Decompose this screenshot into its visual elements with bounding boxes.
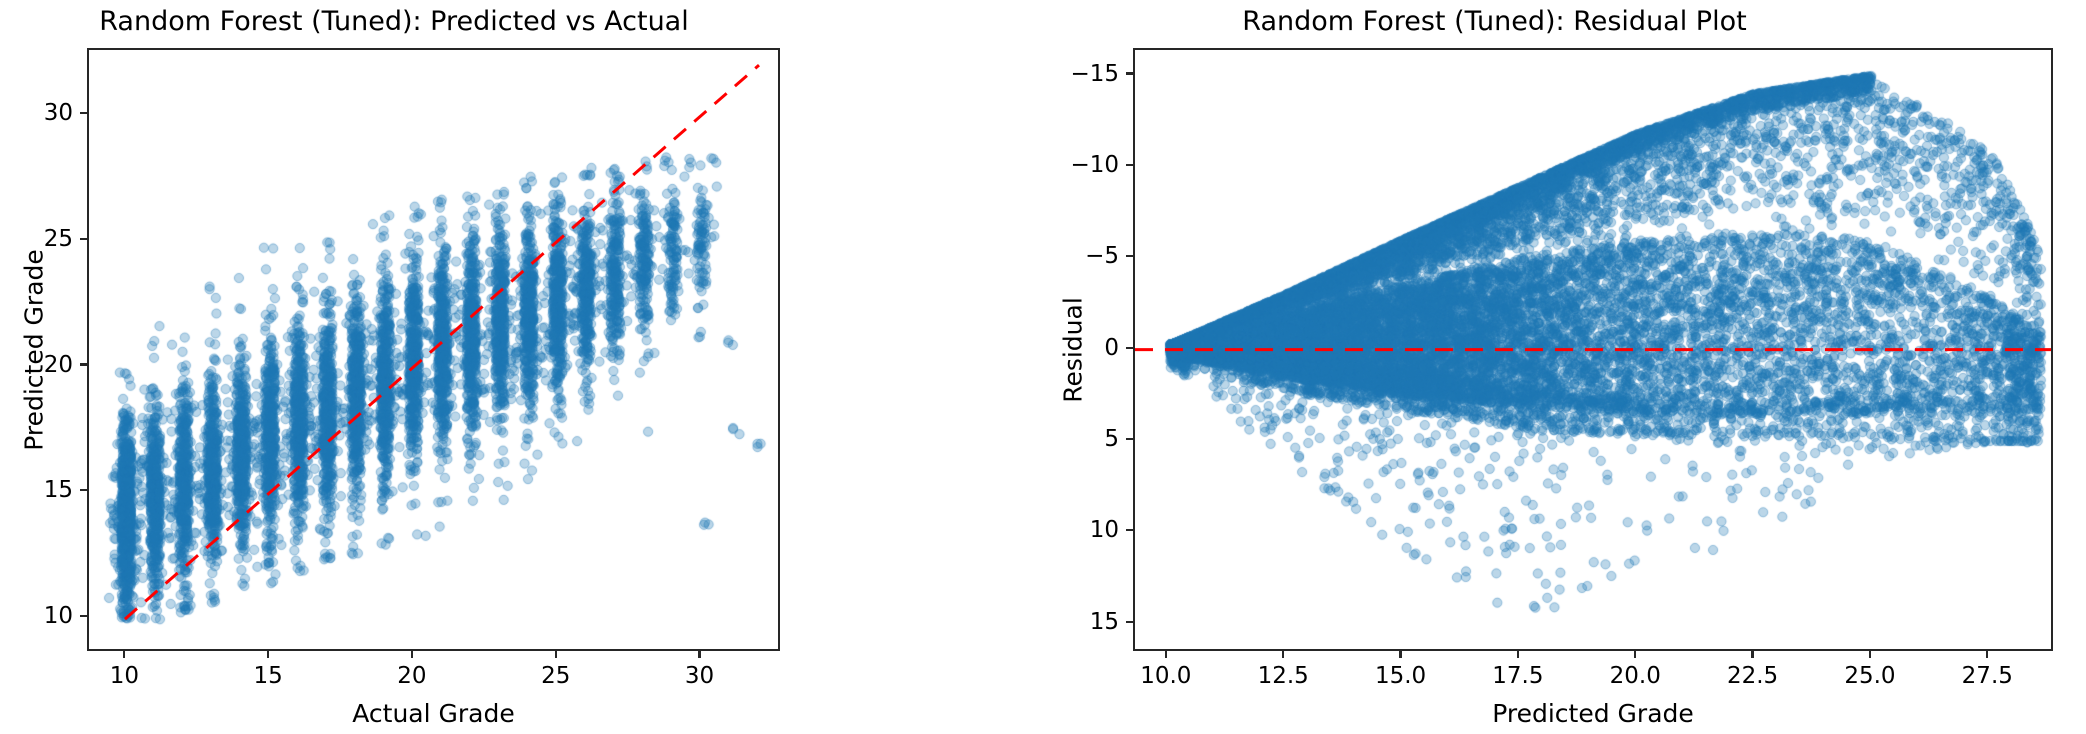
x-tick-mark: [698, 651, 700, 658]
plot-area-predicted-vs-actual: [87, 48, 780, 651]
x-tick-label: 30: [685, 663, 714, 689]
y-tick-label: −15: [1070, 61, 1119, 87]
y-tick-mark: [1126, 164, 1133, 166]
panel-predicted-vs-actual: Random Forest (Tuned): Predicted vs Actu…: [0, 0, 1043, 734]
y-tick-label: 15: [1090, 609, 1119, 635]
y-tick-label: 10: [1090, 517, 1119, 543]
y-tick-label: 25: [44, 226, 73, 252]
scatter-layer-residual-plot: [1135, 50, 2051, 649]
figure-canvas: Random Forest (Tuned): Predicted vs Actu…: [0, 0, 2086, 734]
y-tick-label: 0: [1104, 335, 1119, 361]
y-tick-label: −5: [1085, 243, 1119, 269]
y-tick-mark: [1126, 255, 1133, 257]
x-tick-mark: [267, 651, 269, 658]
x-tick-mark: [1399, 651, 1401, 658]
y-tick-label: −10: [1070, 152, 1119, 178]
x-tick-label: 25: [541, 663, 570, 689]
y-tick-label: 15: [44, 477, 73, 503]
x-tick-label: 10.0: [1140, 663, 1191, 689]
x-tick-mark: [123, 651, 125, 658]
x-axis-label-left: Actual Grade: [352, 699, 515, 728]
panel-title-left: Random Forest (Tuned): Predicted vs Actu…: [10, 6, 778, 37]
y-tick-label: 5: [1104, 426, 1119, 452]
x-tick-label: 22.5: [1727, 663, 1778, 689]
x-tick-mark: [1517, 651, 1519, 658]
x-tick-label: 17.5: [1492, 663, 1543, 689]
y-axis-label-right: Residual: [1059, 297, 1088, 403]
x-tick-mark: [555, 651, 557, 658]
x-tick-label: 15.0: [1375, 663, 1426, 689]
panel-residual-plot: Random Forest (Tuned): Residual Plot 151…: [1043, 0, 2086, 734]
x-tick-label: 20.0: [1610, 663, 1661, 689]
x-tick-mark: [1634, 651, 1636, 658]
x-tick-mark: [1282, 651, 1284, 658]
y-tick-mark: [1126, 438, 1133, 440]
x-tick-label: 10: [110, 663, 139, 689]
y-tick-mark: [80, 363, 87, 365]
y-tick-mark: [80, 238, 87, 240]
y-tick-mark: [1126, 347, 1133, 349]
y-axis-label-left: Predicted Grade: [20, 249, 49, 451]
y-tick-mark: [80, 489, 87, 491]
y-tick-mark: [80, 615, 87, 617]
x-tick-mark: [1165, 651, 1167, 658]
x-tick-label: 25.0: [1844, 663, 1895, 689]
x-axis-label-right: Predicted Grade: [1492, 699, 1694, 728]
y-tick-mark: [80, 112, 87, 114]
x-tick-mark: [1751, 651, 1753, 658]
panel-title-right: Random Forest (Tuned): Residual Plot: [1103, 6, 1886, 37]
x-tick-label: 20: [397, 663, 426, 689]
x-tick-label: 12.5: [1258, 663, 1309, 689]
x-tick-mark: [411, 651, 413, 658]
x-tick-label: 27.5: [1962, 663, 2013, 689]
y-tick-mark: [1126, 621, 1133, 623]
x-tick-mark: [1869, 651, 1871, 658]
plot-area-residual-plot: [1133, 48, 2053, 651]
y-tick-mark: [1126, 529, 1133, 531]
y-tick-label: 10: [44, 603, 73, 629]
y-tick-mark: [1126, 72, 1133, 74]
scatter-layer-predicted-vs-actual: [89, 50, 778, 649]
x-tick-label: 15: [254, 663, 283, 689]
y-tick-label: 30: [44, 100, 73, 126]
x-tick-mark: [1986, 651, 1988, 658]
